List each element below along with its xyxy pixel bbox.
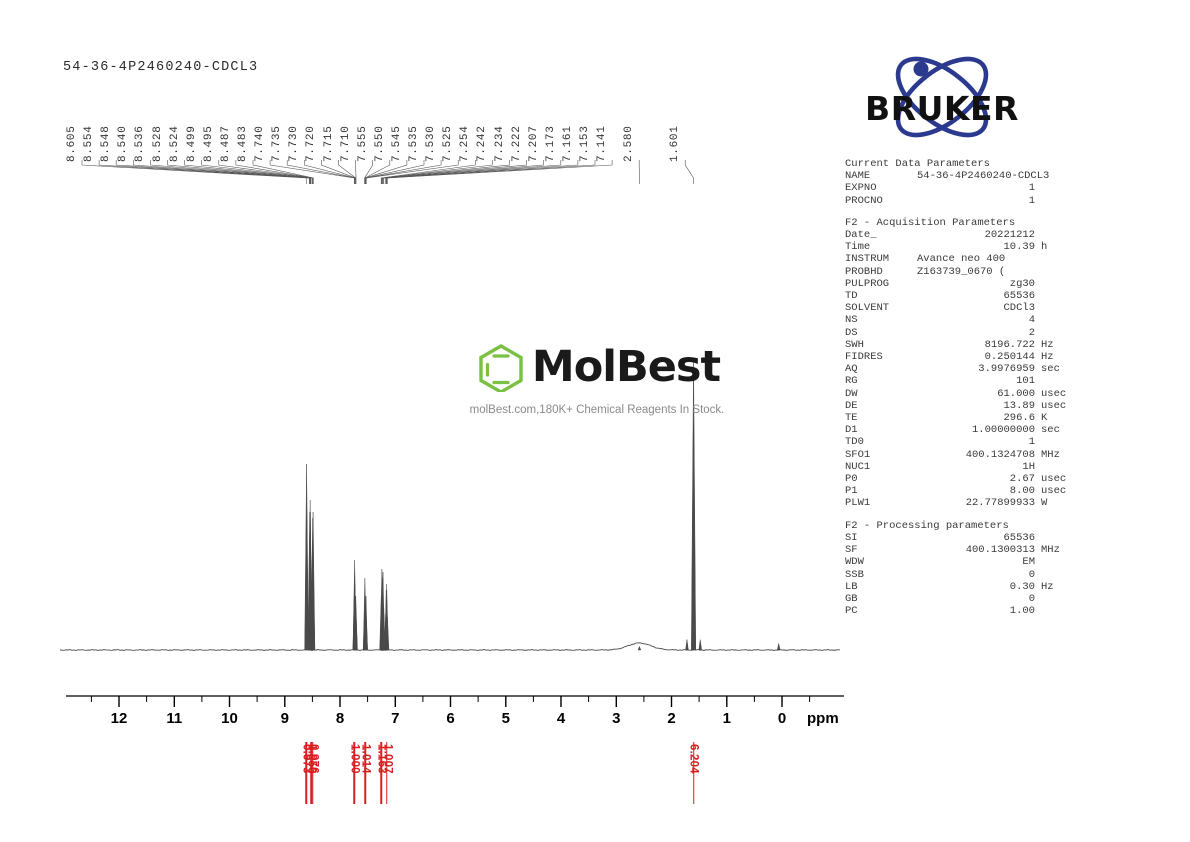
param-row: GB0: [845, 593, 1075, 605]
param-key: SOLVENT: [845, 302, 917, 314]
param-value: 61.000: [917, 388, 1037, 400]
bruker-logo: BRUKER: [852, 56, 1032, 138]
param-row: SFO1400.1324708MHz: [845, 449, 1075, 461]
spectrum-peak: [305, 464, 309, 650]
param-unit: [1037, 569, 1075, 581]
peak-label: 7.730: [289, 125, 300, 162]
param-key: NUC1: [845, 461, 917, 473]
axis-tick-label: 0: [778, 710, 786, 727]
param-value: 400.1300313: [917, 544, 1037, 556]
peak-label: 7.555: [358, 125, 369, 162]
integral-value: 1.014: [359, 744, 371, 774]
axis-unit-label: ppm: [807, 710, 839, 727]
param-value: 2.67: [917, 473, 1037, 485]
integral-value: 1.007: [381, 744, 393, 774]
peak-label: 7.234: [495, 125, 506, 162]
param-value: Z163739_0670 (: [917, 266, 1037, 278]
param-value: EM: [917, 556, 1037, 568]
param-row: NAME54-36-4P2460240-CDCL3: [845, 170, 1075, 182]
param-key: NAME: [845, 170, 917, 182]
spectrum-peak: [686, 640, 689, 651]
param-row: DE13.89usec: [845, 400, 1075, 412]
processing-parameters-title: F2 - Processing parameters: [845, 520, 1075, 532]
param-unit: [1037, 302, 1075, 314]
param-value: 296.6: [917, 412, 1037, 424]
param-key: SF: [845, 544, 917, 556]
peak-label: 7.161: [563, 125, 574, 162]
param-value: 1: [917, 182, 1037, 194]
param-unit: W: [1037, 497, 1075, 509]
bruker-wordmark: BRUKER: [852, 92, 1032, 125]
param-unit: Hz: [1037, 339, 1075, 351]
param-unit: usec: [1037, 485, 1075, 497]
peak-label: 7.530: [426, 125, 437, 162]
param-value: 65536: [917, 290, 1037, 302]
peak-label: 8.499: [187, 125, 198, 162]
peak-label: 8.548: [101, 125, 112, 162]
param-key: DE: [845, 400, 917, 412]
param-value: 0.30: [917, 581, 1037, 593]
param-unit: [1037, 314, 1075, 326]
integral-marker: 1.000: [354, 742, 356, 804]
param-key: SSB: [845, 569, 917, 581]
peak-label: 7.720: [306, 125, 317, 162]
param-row: RG101: [845, 375, 1075, 387]
peak-label: 7.545: [392, 125, 403, 162]
axis-tick-label: 2: [667, 710, 675, 727]
peak-label: 7.550: [375, 125, 386, 162]
param-key: PROCNO: [845, 195, 917, 207]
param-value: 2: [917, 327, 1037, 339]
param-unit: Hz: [1037, 351, 1075, 363]
param-key: SI: [845, 532, 917, 544]
param-row: PLW122.77899933W: [845, 497, 1075, 509]
param-row: TD65536: [845, 290, 1075, 302]
peak-label: 7.710: [341, 125, 352, 162]
param-value: Avance neo 400: [917, 253, 1037, 265]
param-row: PROBHDZ163739_0670 (: [845, 266, 1075, 278]
param-row: LB0.30Hz: [845, 581, 1075, 593]
molbest-watermark: MolBest molBest.com,180K+ Chemical Reage…: [447, 342, 747, 416]
peak-label: 2.580: [624, 125, 635, 162]
param-key: TE: [845, 412, 917, 424]
param-unit: [1037, 327, 1075, 339]
param-row: Date_20221212: [845, 229, 1075, 241]
peak-label: 8.554: [84, 125, 95, 162]
param-key: TD: [845, 290, 917, 302]
peak-label: 7.535: [409, 125, 420, 162]
param-key: Time: [845, 241, 917, 253]
param-row: SF400.1300313MHz: [845, 544, 1075, 556]
param-key: RG: [845, 375, 917, 387]
param-section-gap: [845, 207, 1075, 217]
param-row: EXPNO1: [845, 182, 1075, 194]
param-key: NS: [845, 314, 917, 326]
param-value: 0: [917, 593, 1037, 605]
param-unit: MHz: [1037, 544, 1075, 556]
param-row: SI65536: [845, 532, 1075, 544]
param-unit: sec: [1037, 424, 1075, 436]
param-value: 1.00: [917, 605, 1037, 617]
param-unit: [1037, 182, 1075, 194]
param-unit: usec: [1037, 388, 1075, 400]
param-value: zg30: [917, 278, 1037, 290]
axis-tick-label: 9: [281, 710, 289, 727]
integral-value: 0.976: [307, 744, 319, 774]
acquisition-parameters-panel: Current Data ParametersNAME54-36-4P24602…: [845, 158, 1075, 617]
param-unit: usec: [1037, 473, 1075, 485]
param-key: DW: [845, 388, 917, 400]
param-unit: [1037, 253, 1075, 265]
param-row: PULPROGzg30: [845, 278, 1075, 290]
peak-label: 7.141: [597, 125, 608, 162]
param-row: TE296.6K: [845, 412, 1075, 424]
param-unit: sec: [1037, 363, 1075, 375]
param-value: 1.00000000: [917, 424, 1037, 436]
param-unit: [1037, 290, 1075, 302]
peak-label: 7.735: [272, 125, 283, 162]
param-value: 22.77899933: [917, 497, 1037, 509]
param-unit: MHz: [1037, 449, 1075, 461]
param-row: NUC11H: [845, 461, 1075, 473]
param-value: 0.250144: [917, 351, 1037, 363]
param-value: 8.00: [917, 485, 1037, 497]
param-unit: usec: [1037, 400, 1075, 412]
acquisition-parameters-title: F2 - Acquisition Parameters: [845, 217, 1075, 229]
param-row: Time10.39h: [845, 241, 1075, 253]
param-key: FIDRES: [845, 351, 917, 363]
param-value: 1: [917, 436, 1037, 448]
axis-tick-label: 3: [612, 710, 620, 727]
param-unit: [1037, 266, 1075, 278]
param-value: 0: [917, 569, 1037, 581]
param-unit: [1037, 278, 1075, 290]
x-axis: 1211109876543210ppm: [60, 694, 850, 740]
peak-label: 8.605: [67, 125, 78, 162]
param-unit: [1037, 375, 1075, 387]
param-value: 101: [917, 375, 1037, 387]
peak-label: 7.715: [324, 125, 335, 162]
axis-tick-label: 11: [166, 710, 182, 727]
param-unit: [1037, 436, 1075, 448]
integral-marker: 0.976: [312, 742, 314, 804]
param-value: 8196.722: [917, 339, 1037, 351]
molbest-wordmark: MolBest: [532, 346, 720, 389]
spectrum-peak: [699, 640, 702, 651]
param-row: SOLVENTCDCl3: [845, 302, 1075, 314]
param-value: 4: [917, 314, 1037, 326]
param-row: P18.00usec: [845, 485, 1075, 497]
peak-label: 7.525: [443, 125, 454, 162]
peak-label: 7.254: [460, 125, 471, 162]
integral-marker: 1.014: [365, 742, 367, 804]
param-key: DS: [845, 327, 917, 339]
param-key: D1: [845, 424, 917, 436]
peak-label: 8.483: [238, 125, 249, 162]
peak-label: 8.540: [118, 125, 129, 162]
param-value: 54-36-4P2460240-CDCL3: [917, 170, 1051, 182]
axis-tick-label: 7: [391, 710, 399, 727]
peak-label: 7.173: [546, 125, 557, 162]
param-row: NS4: [845, 314, 1075, 326]
axis-tick-label: 1: [723, 710, 731, 727]
current-data-parameters-title: Current Data Parameters: [845, 158, 1075, 170]
param-row: DS2: [845, 327, 1075, 339]
param-key: LB: [845, 581, 917, 593]
peak-label-list: 8.6058.5548.5488.5408.5368.5288.5248.499…: [76, 82, 736, 162]
param-key: SWH: [845, 339, 917, 351]
param-unit: [1037, 593, 1075, 605]
param-key: GB: [845, 593, 917, 605]
peak-label: 8.536: [135, 125, 146, 162]
axis-tick-label: 12: [111, 710, 128, 727]
param-unit: [1037, 532, 1075, 544]
param-unit: [1037, 461, 1075, 473]
peak-label: 8.487: [221, 125, 232, 162]
param-unit: [1037, 605, 1075, 617]
axis-tick-label: 5: [502, 710, 510, 727]
param-value: 3.9976959: [917, 363, 1037, 375]
integral-list: 0.9731.9560.9761.0001.0141.1631.0076.204: [60, 742, 850, 812]
peak-label: 7.242: [477, 125, 488, 162]
param-row: FIDRES0.250144Hz: [845, 351, 1075, 363]
param-row: SWH8196.722Hz: [845, 339, 1075, 351]
param-unit: [1037, 556, 1075, 568]
param-row: TD01: [845, 436, 1075, 448]
axis-tick-label: 4: [557, 710, 565, 727]
axis-tick-label: 6: [446, 710, 454, 727]
param-key: PROBHD: [845, 266, 917, 278]
param-row: AQ3.9976959sec: [845, 363, 1075, 375]
integral-value: 6.204: [688, 744, 700, 774]
hexagon-icon: [474, 342, 528, 392]
param-row: SSB0: [845, 569, 1075, 581]
param-key: PULPROG: [845, 278, 917, 290]
param-key: EXPNO: [845, 182, 917, 194]
param-value: 20221212: [917, 229, 1037, 241]
param-row: INSTRUMAvance neo 400: [845, 253, 1075, 265]
peak-label: 7.740: [255, 125, 266, 162]
axis-tick-label: 10: [221, 710, 238, 727]
param-value: 13.89: [917, 400, 1037, 412]
peak-label: 7.222: [512, 125, 523, 162]
param-section-gap: [845, 510, 1075, 520]
spectrum-svg: [60, 180, 840, 670]
param-key: AQ: [845, 363, 917, 375]
peak-label: 8.495: [204, 125, 215, 162]
param-unit: h: [1037, 241, 1075, 253]
spectrum-trace-area: [60, 180, 840, 670]
param-unit: [1037, 195, 1075, 207]
param-unit: K: [1037, 412, 1075, 424]
spectrum-peak: [777, 643, 780, 650]
peak-label: 8.528: [153, 125, 164, 162]
molbest-logo-row: MolBest: [447, 342, 747, 392]
param-row: DW61.000usec: [845, 388, 1075, 400]
param-value: 65536: [917, 532, 1037, 544]
param-key: P1: [845, 485, 917, 497]
integral-marker: 6.204: [693, 742, 695, 804]
param-key: PC: [845, 605, 917, 617]
param-value: 400.1324708: [917, 449, 1037, 461]
baseline-trace: [60, 643, 840, 651]
param-row: PC1.00: [845, 605, 1075, 617]
integral-marker: 1.007: [386, 742, 388, 804]
param-key: Date_: [845, 229, 917, 241]
atom-nucleus-dot: [914, 62, 929, 77]
param-unit: Hz: [1037, 581, 1075, 593]
peak-label: 1.601: [670, 125, 681, 162]
param-key: PLW1: [845, 497, 917, 509]
param-row: WDWEM: [845, 556, 1075, 568]
param-key: SFO1: [845, 449, 917, 461]
param-value: 10.39: [917, 241, 1037, 253]
molbest-tagline: molBest.com,180K+ Chemical Reagents In S…: [447, 404, 747, 416]
param-row: PROCNO1: [845, 195, 1075, 207]
param-value: CDCl3: [917, 302, 1037, 314]
peak-label: 7.207: [529, 125, 540, 162]
param-key: WDW: [845, 556, 917, 568]
nmr-spectrum-page: 54-36-4P2460240-CDCL3 8.6058.5548.5488.5…: [0, 0, 1190, 842]
param-value: 1H: [917, 461, 1037, 473]
peak-label: 7.153: [580, 125, 591, 162]
param-unit: [1037, 229, 1075, 241]
param-key: INSTRUM: [845, 253, 917, 265]
param-unit: [1051, 170, 1089, 182]
param-key: TD0: [845, 436, 917, 448]
axis-tick-label: 8: [336, 710, 344, 727]
param-row: D11.00000000sec: [845, 424, 1075, 436]
peak-label: 8.524: [170, 125, 181, 162]
param-row: P02.67usec: [845, 473, 1075, 485]
param-key: P0: [845, 473, 917, 485]
param-value: 1: [917, 195, 1037, 207]
spectrum-peak: [638, 646, 641, 650]
page-title: 54-36-4P2460240-CDCL3: [63, 60, 258, 75]
